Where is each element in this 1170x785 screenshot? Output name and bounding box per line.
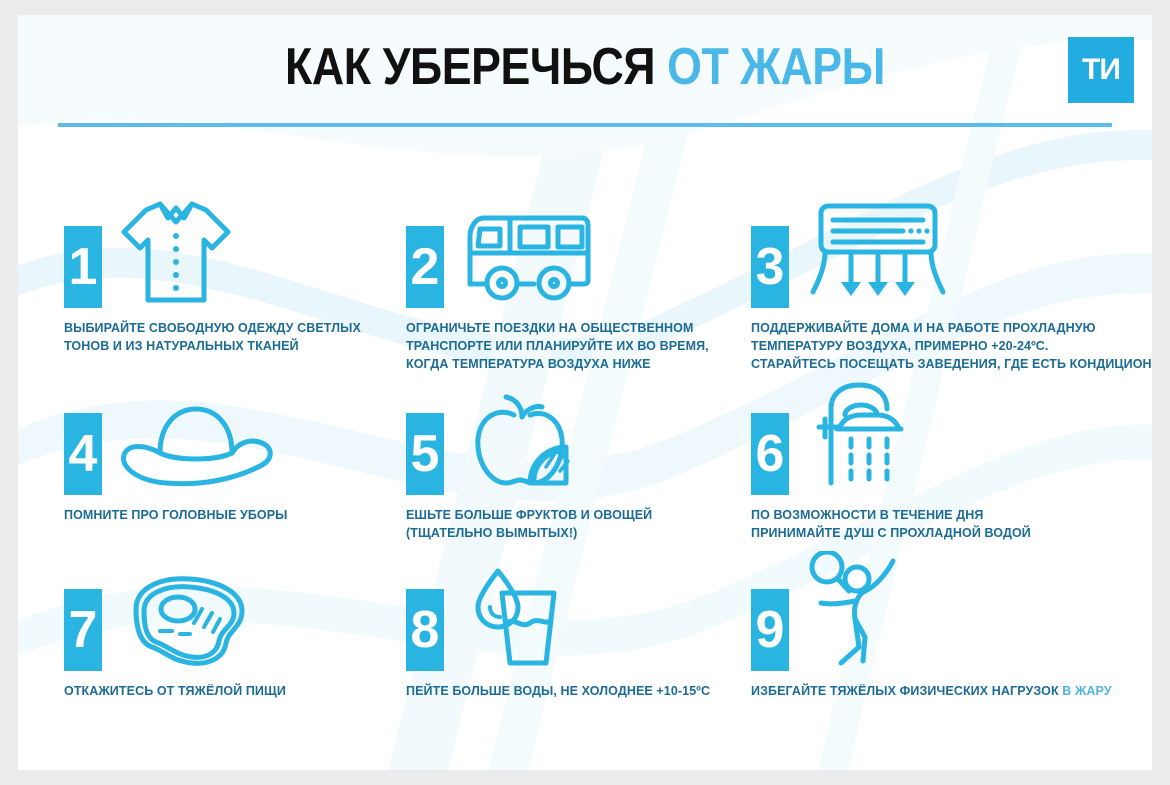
tip-5-line-1: (ТЩАТЕЛЬНО ВЫМЫТЫХ!) [406,525,736,543]
tennis-player-icon [803,567,933,671]
tip-6-head: 6 [751,387,1141,495]
tip-item-8: 8 ПЕЙТЕ БОЛЬШЕ ВОДЫ, НЕ ХО [406,567,736,701]
poster-card: КАК УБЕРЕЧЬСЯ ОТ ЖАРЫ ТИ 1 [18,15,1152,770]
tip-4-text: ПОМНИТЕ ПРО ГОЛОВНЫЕ УБОРЫ [64,507,394,525]
tip-item-9: 9 [751,567,1141,701]
fruit-icon [458,387,598,495]
meat-icon [116,567,266,671]
tip-7-text: ОТКАЖИТЕСЬ ОТ ТЯЖЁЛОЙ ПИЩИ [64,683,394,701]
tip-8-head: 8 [406,567,736,671]
tip-6-text: ПО ВОЗМОЖНОСТИ В ТЕЧЕНИЕ ДНЯ ПРИНИМАЙТЕ … [751,507,1141,543]
logo-text: ТИ [1082,55,1120,85]
tip-4-head: 4 [64,387,394,495]
tip-item-3: 3 [751,190,1141,373]
tip-item-2: 2 [406,190,736,373]
tip-1-line-1: ТОНОВ И ИЗ НАТУРАЛЬНЫХ ТКАНЕЙ [64,338,394,356]
tip-5-text: ЕШЬТЕ БОЛЬШЕ ФРУКТОВ И ОВОЩЕЙ (ТЩАТЕЛЬНО… [406,507,736,543]
tip-4-number-badge: 4 [64,413,102,495]
tips-grid: 1 [18,190,1152,747]
tip-9-accent-tail: В ЖАРУ [1062,684,1111,698]
tip-9-text: ИЗБЕГАЙТЕ ТЯЖЁЛЫХ ФИЗИЧЕСКИХ НАГРУЗОК В … [751,683,1141,701]
tip-3-text: ПОДДЕРЖИВАЙТЕ ДОМА И НА РАБОТЕ ПРОХЛАДНУ… [751,320,1141,373]
tip-item-1: 1 [64,190,394,356]
bus-icon [458,190,598,308]
tip-9-head: 9 [751,567,1141,671]
tip-1-head: 1 [64,190,394,308]
tip-item-4: 4 ПОМНИТЕ ПРО ГОЛОВНЫЕ УБОРЫ [64,387,394,525]
page-title: КАК УБЕРЕЧЬСЯ ОТ ЖАРЫ [97,41,1072,93]
title-part-dark: КАК УБЕРЕЧЬСЯ [285,38,655,96]
tip-2-head: 2 [406,190,736,308]
tip-9-line-0-main: ИЗБЕГАЙТЕ ТЯЖЁЛЫХ ФИЗИЧЕСКИХ НАГРУЗОК [751,684,1062,698]
tip-5-number-badge: 5 [406,413,444,495]
tip-5-head: 5 [406,387,736,495]
tip-8-number-badge: 8 [406,589,444,671]
tip-2-text: ОГРАНИЧЬТЕ ПОЕЗДКИ НА ОБЩЕСТВЕННОМ ТРАНС… [406,320,736,373]
tip-9-number-badge: 9 [751,589,789,671]
tip-7-number-badge: 7 [64,589,102,671]
tip-item-5: 5 [406,387,736,543]
tip-2-number-badge: 2 [406,226,444,308]
tip-1-number-badge: 1 [64,226,102,308]
shower-icon [803,387,933,495]
sun-hat-icon [116,387,276,495]
tips-row-1: 1 [18,190,1152,387]
tip-4-line-0: ПОМНИТЕ ПРО ГОЛОВНЫЕ УБОРЫ [64,507,394,525]
tip-2-line-1: ТРАНСПОРТЕ ИЛИ ПЛАНИРУЙТЕ ИХ ВО ВРЕМЯ, [406,338,736,356]
tip-6-line-0: ПО ВОЗМОЖНОСТИ В ТЕЧЕНИЕ ДНЯ [751,507,1141,525]
tip-2-line-2: КОГДА ТЕМПЕРАТУРА ВОЗДУХА НИЖЕ [406,356,736,374]
water-glass-icon [458,567,578,671]
tip-3-line-0: ПОДДЕРЖИВАЙТЕ ДОМА И НА РАБОТЕ ПРОХЛАДНУ… [751,320,1141,338]
tip-1-text: ВЫБИРАЙТЕ СВОБОДНУЮ ОДЕЖДУ СВЕТЛЫХ ТОНОВ… [64,320,394,356]
tip-1-line-0: ВЫБИРАЙТЕ СВОБОДНУЮ ОДЕЖДУ СВЕТЛЫХ [64,320,394,338]
tip-item-6: 6 [751,387,1141,543]
tip-9-line-0: ИЗБЕГАЙТЕ ТЯЖЁЛЫХ ФИЗИЧЕСКИХ НАГРУЗОК В … [751,683,1141,701]
air-conditioner-icon [803,190,953,308]
tip-item-7: 7 [64,567,394,701]
poster-header: КАК УБЕРЕЧЬСЯ ОТ ЖАРЫ ТИ [18,15,1152,127]
tip-8-text: ПЕЙТЕ БОЛЬШЕ ВОДЫ, НЕ ХОЛОДНЕЕ +10-15ºС [406,683,736,701]
tip-7-head: 7 [64,567,394,671]
tip-3-line-1: ТЕМПЕРАТУРУ ВОЗДУХА, ПРИМЕРНО +20-24ºС. [751,338,1141,356]
tips-row-3: 7 [18,567,1152,747]
tip-3-head: 3 [751,190,1141,308]
polo-shirt-icon [116,190,236,308]
tip-6-line-1: ПРИНИМАЙТЕ ДУШ С ПРОХЛАДНОЙ ВОДОЙ [751,525,1141,543]
tip-2-line-0: ОГРАНИЧЬТЕ ПОЕЗДКИ НА ОБЩЕСТВЕННОМ [406,320,736,338]
tip-3-line-2: СТАРАЙТЕСЬ ПОСЕЩАТЬ ЗАВЕДЕНИЯ, ГДЕ ЕСТЬ … [751,356,1141,374]
header-divider [58,123,1112,127]
title-part-blue: ОТ ЖАРЫ [667,38,885,96]
logo-ti[interactable]: ТИ [1068,37,1134,103]
tips-row-2: 4 ПОМНИТЕ ПРО ГОЛОВНЫЕ УБОРЫ [18,387,1152,567]
tip-3-number-badge: 3 [751,226,789,308]
tip-6-number-badge: 6 [751,413,789,495]
tip-8-line-0: ПЕЙТЕ БОЛЬШЕ ВОДЫ, НЕ ХОЛОДНЕЕ +10-15ºС [406,683,736,701]
tip-7-line-0: ОТКАЖИТЕСЬ ОТ ТЯЖЁЛОЙ ПИЩИ [64,683,394,701]
tip-5-line-0: ЕШЬТЕ БОЛЬШЕ ФРУКТОВ И ОВОЩЕЙ [406,507,736,525]
